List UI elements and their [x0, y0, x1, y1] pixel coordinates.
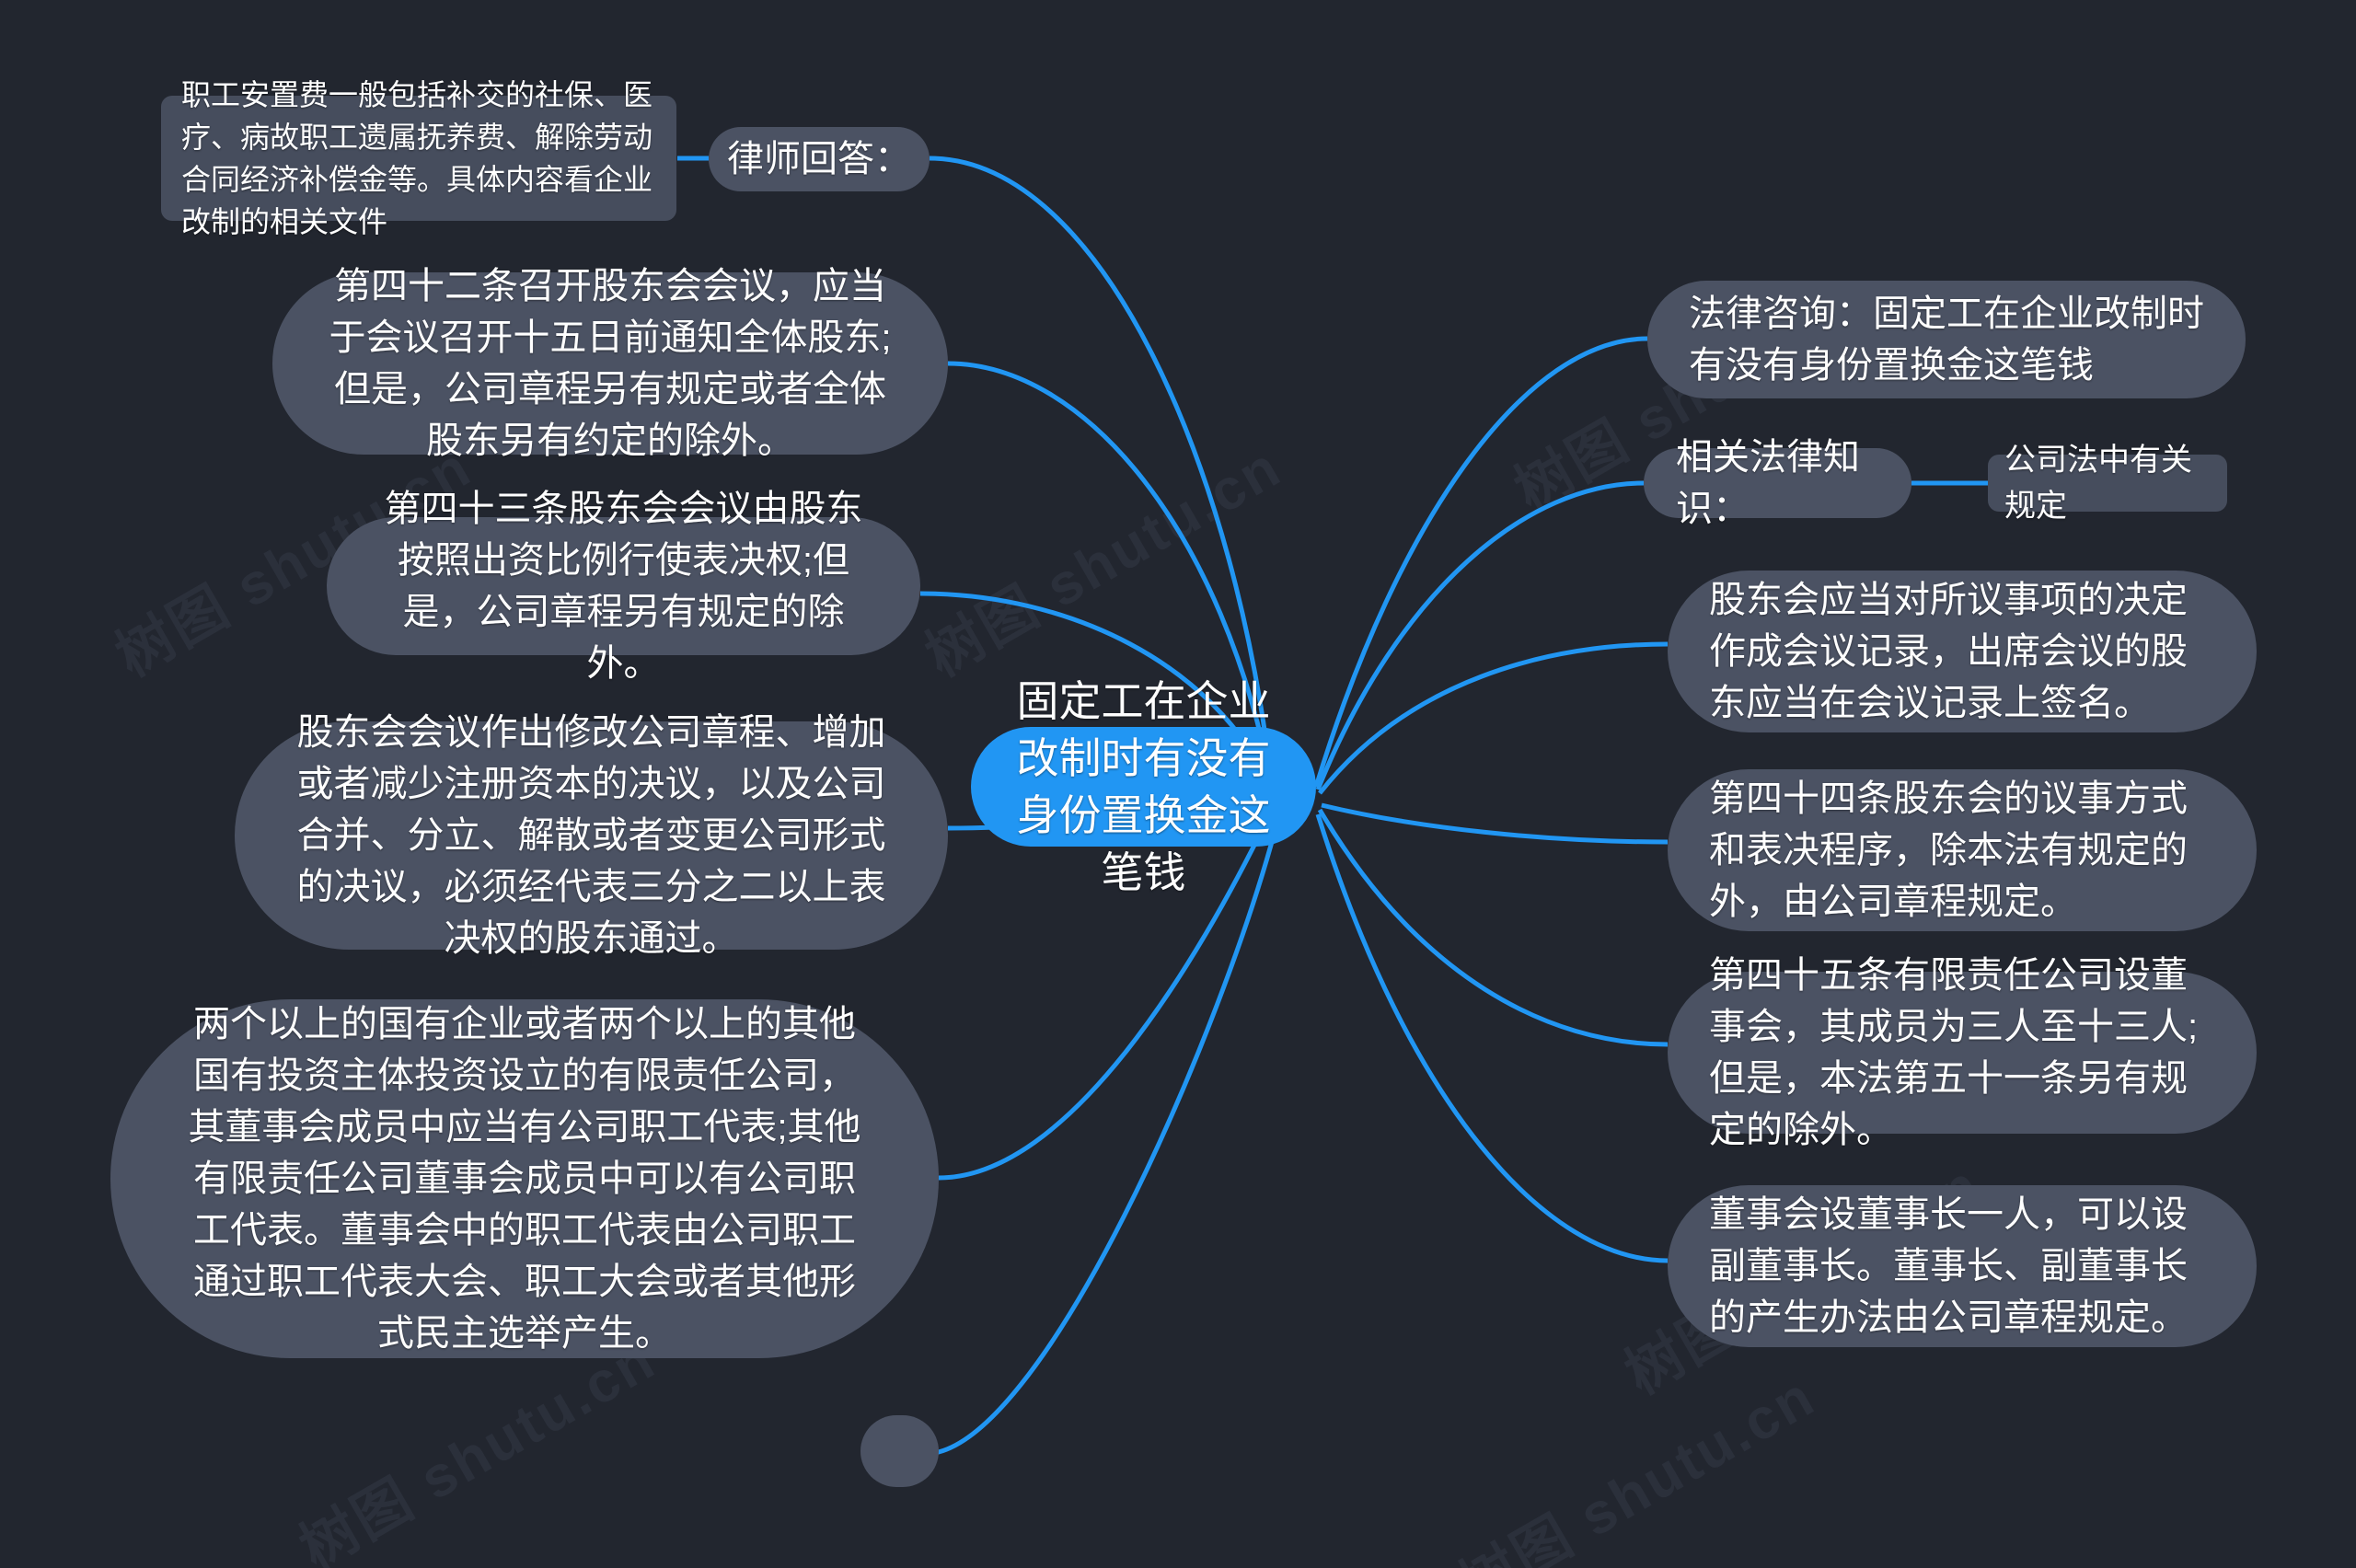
- edge-center-to-a45: [1320, 810, 1668, 1044]
- node-chairman[interactable]: 董事会设董事长一人，可以设副董事长。董事长、副董事长的产生办法由公司章程规定。: [1668, 1185, 2257, 1347]
- node-article-43-label: 第四十三条股东会会议由股东按照出资比例行使表决权;但是，公司章程另有规定的除外。: [378, 483, 869, 689]
- watermark: 树图 shutu.cn: [907, 421, 1294, 692]
- edge-center-to-a44: [1322, 805, 1668, 842]
- edge-center-to-minutes: [1320, 644, 1668, 793]
- node-related-legal-knowledge[interactable]: 相关法律知识：: [1644, 448, 1911, 518]
- node-article-44-label: 第四十四条股东会的议事方式和表决程序，除本法有规定的外，由公司章程规定。: [1709, 773, 2215, 928]
- node-article-45[interactable]: 第四十五条有限责任公司设董事会，其成员为三人至十三人;但是，本法第五十一条另有规…: [1668, 972, 2257, 1134]
- mindmap-canvas: 树图 shutu.cn 树图 shutu.cn 树图 shutu.cn 树图 s…: [0, 0, 2356, 1568]
- edge-center-to-knowledge: [1318, 483, 1644, 790]
- node-meeting-minutes[interactable]: 股东会应当对所议事项的决定作成会议记录，出席会议的股东应当在会议记录上签名。: [1668, 571, 2257, 732]
- node-lawyer-answer[interactable]: 律师回答：: [709, 127, 930, 191]
- node-legal-consultation-label: 法律咨询：固定工在企业改制时有没有身份置换金这笔钱: [1689, 288, 2204, 391]
- watermark: 树图 shutu.cn: [1441, 1351, 1828, 1568]
- node-lawyer-answer-detail[interactable]: 职工安置费一般包括补交的社保、医疗、病故职工遗属抚养费、解除劳动合同经济补偿金等…: [161, 96, 676, 221]
- node-shareholder-resolution-label: 股东会会议作出修改公司章程、增加或者减少注册资本的决议，以及公司合并、分立、解散…: [292, 707, 891, 964]
- node-related-legal-knowledge-label: 相关法律知识：: [1676, 432, 1879, 535]
- node-article-42-label: 第四十二条召开股东会会议，应当于会议召开十五日前通知全体股东;但是，公司章程另有…: [324, 260, 896, 467]
- node-article-44[interactable]: 第四十四条股东会的议事方式和表决程序，除本法有规定的外，由公司章程规定。: [1668, 769, 2257, 931]
- central-topic-node[interactable]: 固定工在企业改制时有没有身份置换金这笔钱: [971, 727, 1316, 847]
- node-empty[interactable]: [860, 1415, 939, 1487]
- node-state-owned-board-label: 两个以上的国有企业或者两个以上的其他国有投资主体投资设立的有限责任公司，其董事会…: [182, 998, 867, 1359]
- edge-center-to-chairman: [1318, 814, 1668, 1261]
- node-company-law-provision-label: 公司法中有关规定: [2004, 437, 2211, 529]
- node-meeting-minutes-label: 股东会应当对所议事项的决定作成会议记录，出席会议的股东应当在会议记录上签名。: [1709, 574, 2215, 729]
- node-lawyer-answer-detail-label: 职工安置费一般包括补交的社保、医疗、病故职工遗属抚养费、解除劳动合同经济补偿金等…: [181, 74, 656, 243]
- node-chairman-label: 董事会设董事长一人，可以设副董事长。董事长、副董事长的产生办法由公司章程规定。: [1709, 1189, 2215, 1343]
- node-state-owned-board[interactable]: 两个以上的国有企业或者两个以上的其他国有投资主体投资设立的有限责任公司，其董事会…: [110, 999, 939, 1358]
- edge-center-to-consultation: [1316, 339, 1647, 787]
- node-legal-consultation[interactable]: 法律咨询：固定工在企业改制时有没有身份置换金这笔钱: [1647, 281, 2246, 398]
- node-shareholder-resolution[interactable]: 股东会会议作出修改公司章程、增加或者减少注册资本的决议，以及公司合并、分立、解散…: [235, 721, 948, 950]
- central-topic-label: 固定工在企业改制时有没有身份置换金这笔钱: [999, 673, 1288, 901]
- node-lawyer-answer-label: 律师回答：: [727, 133, 911, 185]
- node-article-43[interactable]: 第四十三条股东会会议由股东按照出资比例行使表决权;但是，公司章程另有规定的除外。: [327, 517, 920, 655]
- edge-empty-to-center: [925, 814, 1279, 1454]
- node-article-45-label: 第四十五条有限责任公司设董事会，其成员为三人至十三人;但是，本法第五十一条另有规…: [1709, 950, 2215, 1156]
- node-article-42[interactable]: 第四十二条召开股东会会议，应当于会议召开十五日前通知全体股东;但是，公司章程另有…: [272, 272, 948, 455]
- node-company-law-provision[interactable]: 公司法中有关规定: [1988, 455, 2227, 512]
